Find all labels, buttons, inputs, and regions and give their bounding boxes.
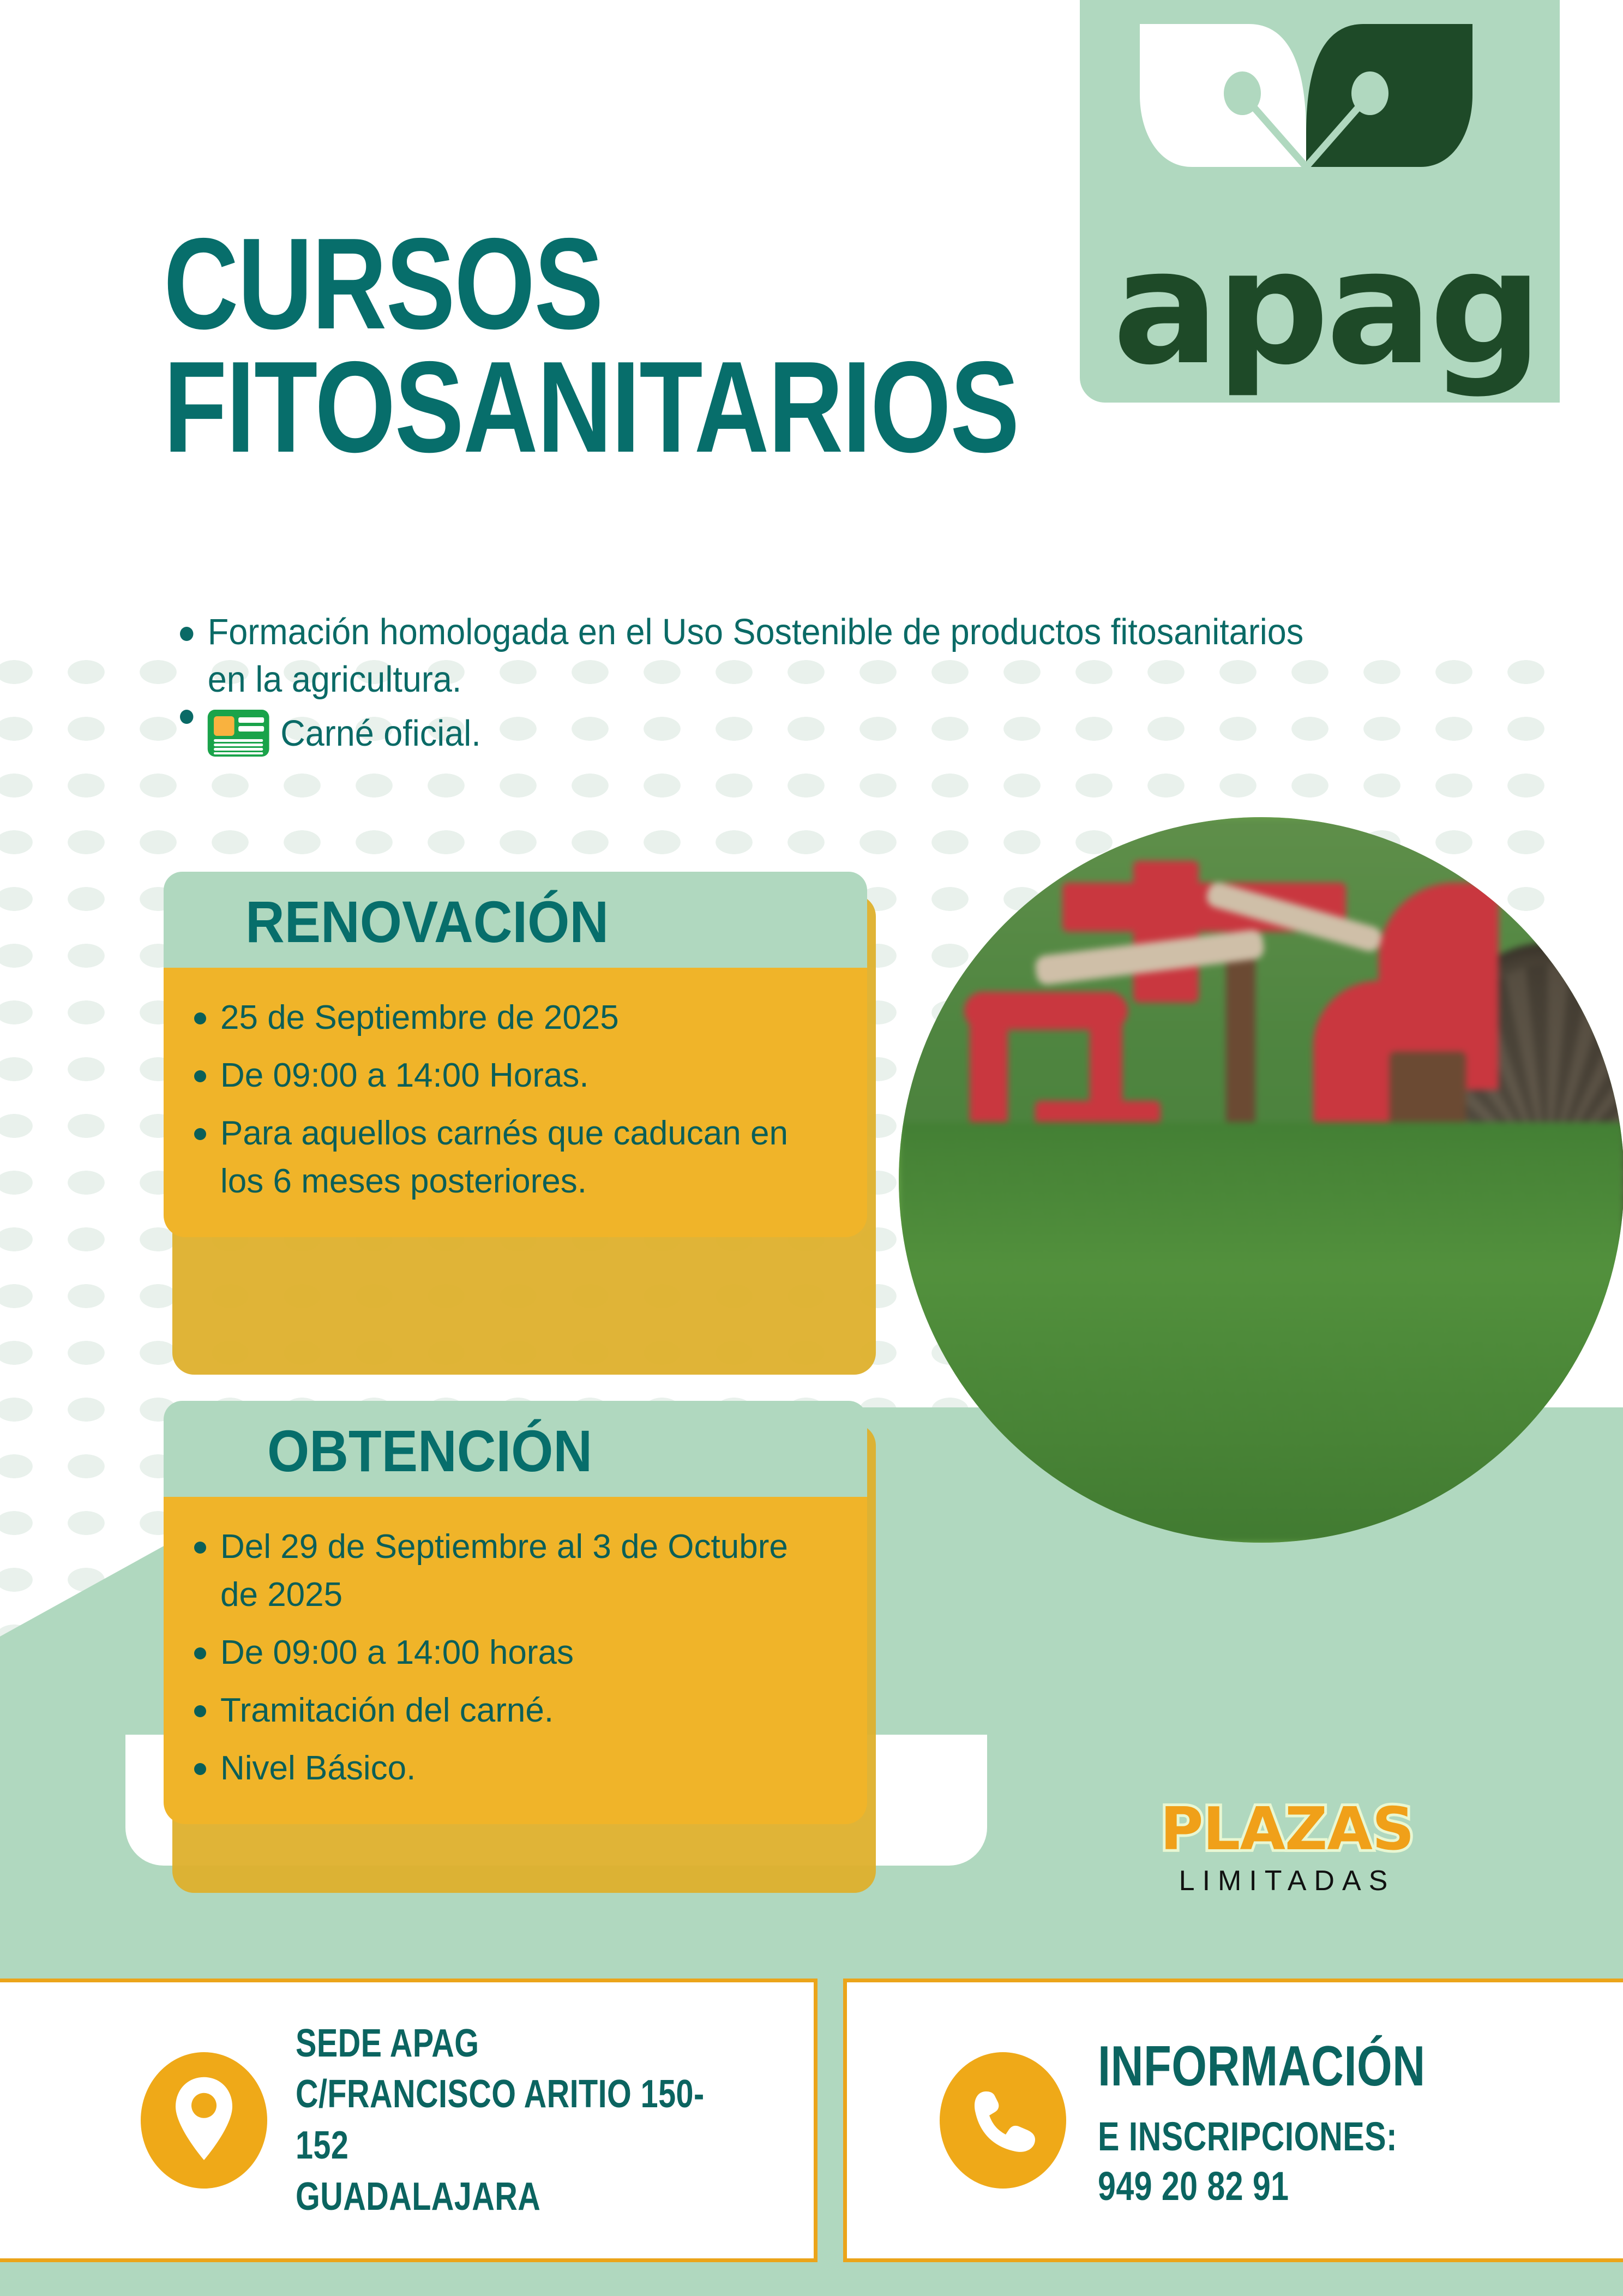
location-pin-icon	[171, 2075, 237, 2162]
address-line-3: GUADALAJARA	[296, 2172, 710, 2223]
id-card-icon	[208, 710, 269, 757]
contact-block: INFORMACIÓN E INSCRIPCIONES: 949 20 82 9…	[1098, 2030, 1518, 2211]
course-card-obtencion: OBTENCIÓN Del 29 de Septiembre al 3 de O…	[164, 1401, 867, 1824]
list-item-text: De 09:00 a 14:00 horas	[220, 1629, 574, 1677]
poster: apag CURSOS FITOSANITARIOS Formación hom…	[0, 0, 1623, 2296]
phone-badge	[940, 2052, 1066, 2189]
footer-location-panel: SEDE APAG C/FRANCISCO ARITIO 150-152 GUA…	[0, 1979, 817, 2262]
bullet-dot-icon	[180, 710, 193, 724]
bullet-dot-icon	[194, 1705, 206, 1717]
card-body: 25 de Septiembre de 2025 De 09:00 a 14:0…	[164, 968, 867, 1237]
card-header: OBTENCIÓN	[164, 1401, 867, 1497]
card-title: OBTENCIÓN	[267, 1422, 789, 1480]
bullet-dot-icon	[194, 1128, 206, 1140]
title-line-1: CURSOS	[164, 223, 1019, 346]
address-line-2: C/FRANCISCO ARITIO 150-152	[296, 2069, 710, 2171]
list-item: Tramitación del carné.	[194, 1687, 834, 1735]
contact-title: INFORMACIÓN	[1098, 2030, 1518, 2103]
address-line-1: SEDE APAG	[296, 2018, 710, 2070]
list-item: De 09:00 a 14:00 Horas.	[194, 1052, 834, 1100]
list-item: 25 de Septiembre de 2025	[194, 994, 834, 1042]
card-body: Del 29 de Septiembre al 3 de Octubre de …	[164, 1497, 867, 1824]
apag-logo-badge: apag	[1080, 0, 1560, 403]
course-photo	[899, 817, 1623, 1543]
bullet-dot-icon	[194, 1012, 206, 1024]
bullet-dot-icon	[180, 627, 193, 641]
intro-bullet-2: Carné oficial.	[180, 710, 1349, 757]
bullet-dot-icon	[194, 1542, 206, 1554]
list-item: Para aquellos carnés que caducan en los …	[194, 1110, 834, 1206]
plazas-limitadas-badge: PLAZAS LIMITADAS	[1107, 1800, 1467, 1895]
intro-bullet-1-text: Formación homologada en el Uso Sostenibl…	[208, 608, 1349, 703]
leaf-pair-icon	[1140, 24, 1472, 242]
phone-icon	[967, 2085, 1038, 2156]
card-header: RENOVACIÓN	[164, 872, 867, 968]
intro-bullet-2-text: Carné oficial.	[280, 710, 1349, 757]
bullet-dot-icon	[194, 1647, 206, 1659]
location-pin-badge	[141, 2052, 267, 2189]
logo-wordmark: apag	[1113, 229, 1516, 387]
address-block: SEDE APAG C/FRANCISCO ARITIO 150-152 GUA…	[296, 2018, 710, 2222]
list-item: Nivel Básico.	[194, 1745, 834, 1793]
intro-bullet-list: Formación homologada en el Uso Sostenibl…	[180, 608, 1349, 764]
course-card-renovacion: RENOVACIÓN 25 de Septiembre de 2025 De 0…	[164, 872, 867, 1237]
title-line-2: FITOSANITARIOS	[164, 346, 1019, 469]
footer-contact-panel: INFORMACIÓN E INSCRIPCIONES: 949 20 82 9…	[843, 1979, 1623, 2262]
list-item-text: Del 29 de Septiembre al 3 de Octubre de …	[220, 1523, 834, 1619]
contact-sub-line-2: 949 20 82 91	[1098, 2162, 1518, 2211]
list-item-text: De 09:00 a 14:00 Horas.	[220, 1052, 589, 1100]
list-item: Del 29 de Septiembre al 3 de Octubre de …	[194, 1523, 834, 1619]
card-title: RENOVACIÓN	[245, 892, 788, 951]
list-item-text: Tramitación del carné.	[220, 1687, 554, 1735]
list-item: De 09:00 a 14:00 horas	[194, 1629, 834, 1677]
bullet-dot-icon	[194, 1763, 206, 1775]
page-title: CURSOS FITOSANITARIOS	[164, 223, 1019, 469]
bullet-dot-icon	[194, 1070, 206, 1082]
grass-field	[899, 1122, 1623, 1543]
list-item-text: Nivel Básico.	[220, 1745, 416, 1793]
plazas-subline: LIMITADAS	[1107, 1867, 1467, 1895]
list-item-text: Para aquellos carnés que caducan en los …	[220, 1110, 834, 1206]
intro-bullet-1: Formación homologada en el Uso Sostenibl…	[180, 608, 1349, 703]
list-item-text: 25 de Septiembre de 2025	[220, 994, 619, 1042]
contact-sub-line-1: E INSCRIPCIONES:	[1098, 2112, 1518, 2161]
plazas-headline: PLAZAS	[1107, 1800, 1467, 1859]
